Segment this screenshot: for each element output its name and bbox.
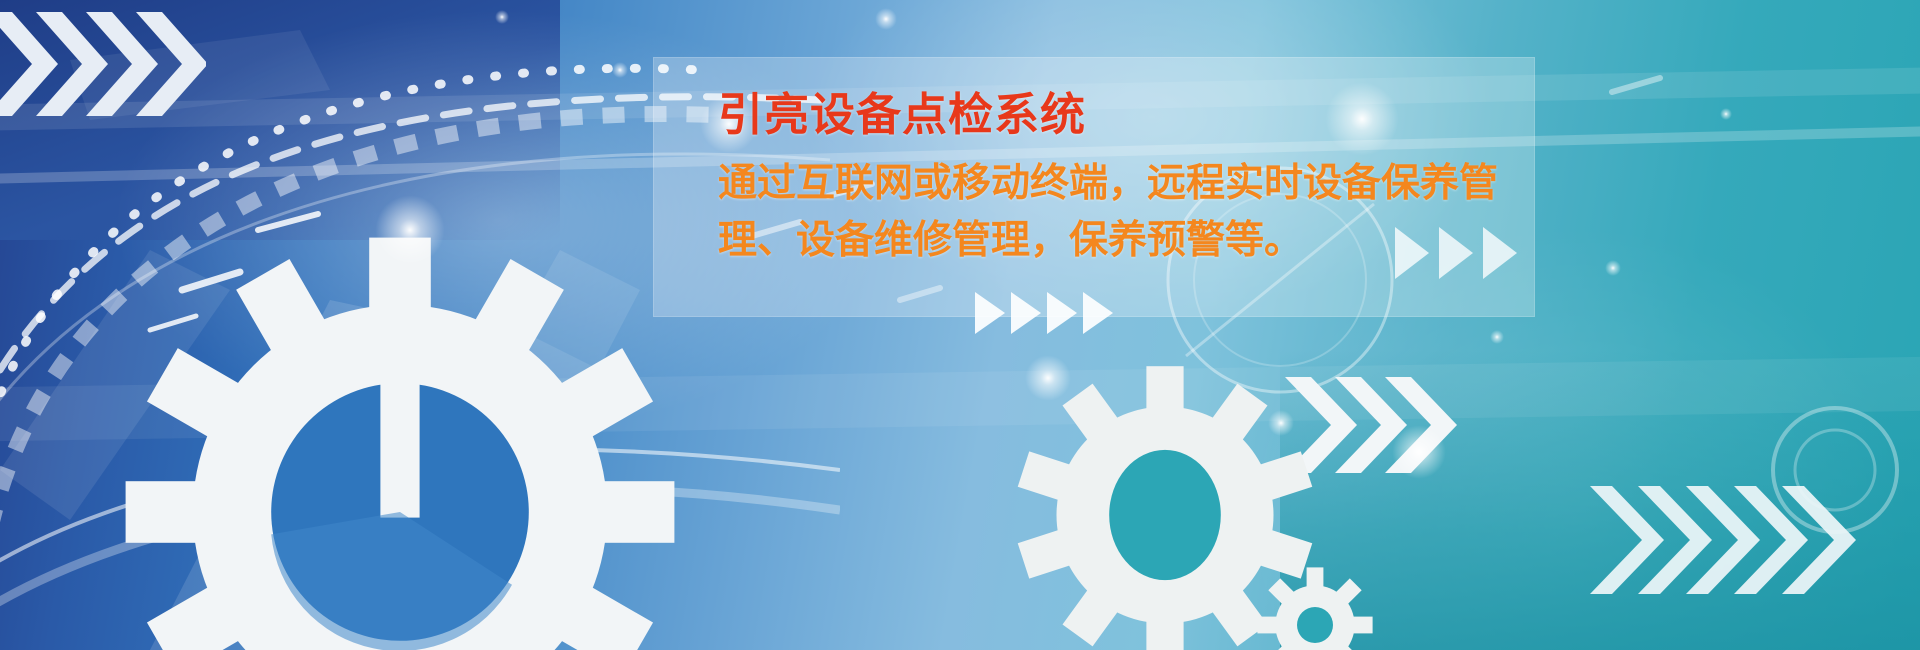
banner-title: 引亮设备点检系统 — [718, 88, 1538, 142]
promo-banner: 引亮设备点检系统 通过互联网或移动终端，远程实时设备保养管理、设备维修管理，保养… — [0, 0, 1920, 650]
banner-subtitle: 通过互联网或移动终端，远程实时设备保养管理、设备维修管理，保养预警等。 — [718, 156, 1508, 270]
banner-copy: 引亮设备点检系统 通过互联网或移动终端，远程实时设备保养管理、设备维修管理，保养… — [718, 88, 1538, 270]
